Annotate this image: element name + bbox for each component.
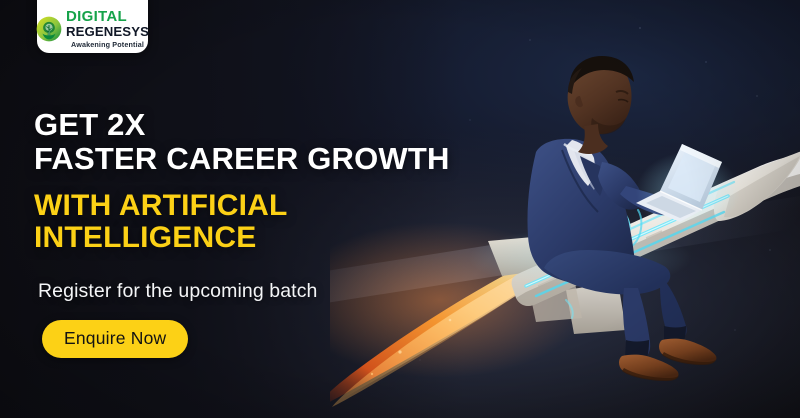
promo-banner: DIGITAL REGENESYS Awakening Potential GE… bbox=[0, 0, 800, 418]
tree-circle-emblem-icon bbox=[36, 16, 62, 42]
enquire-now-button[interactable]: Enquire Now bbox=[42, 320, 188, 358]
brand-logo-card[interactable]: DIGITAL REGENESYS Awakening Potential bbox=[37, 0, 148, 53]
subheadline-line-2: INTELLIGENCE bbox=[34, 222, 494, 255]
page-title: GET 2X FASTER CAREER GROWTH bbox=[34, 108, 494, 176]
headline-line-1: GET 2X bbox=[34, 108, 494, 142]
logo-primary-word: DIGITAL bbox=[66, 9, 149, 24]
logo-tagline: Awakening Potential bbox=[66, 41, 149, 48]
logo-secondary-word: REGENESYS bbox=[66, 25, 149, 38]
subheadline-line-1: WITH ARTIFICIAL bbox=[34, 190, 494, 223]
register-text: Register for the upcoming batch bbox=[38, 280, 494, 303]
headline-line-2: FASTER CAREER GROWTH bbox=[34, 142, 494, 176]
promo-copy-block: GET 2X FASTER CAREER GROWTH WITH ARTIFIC… bbox=[34, 108, 494, 358]
subheadline: WITH ARTIFICIAL INTELLIGENCE bbox=[34, 190, 494, 255]
